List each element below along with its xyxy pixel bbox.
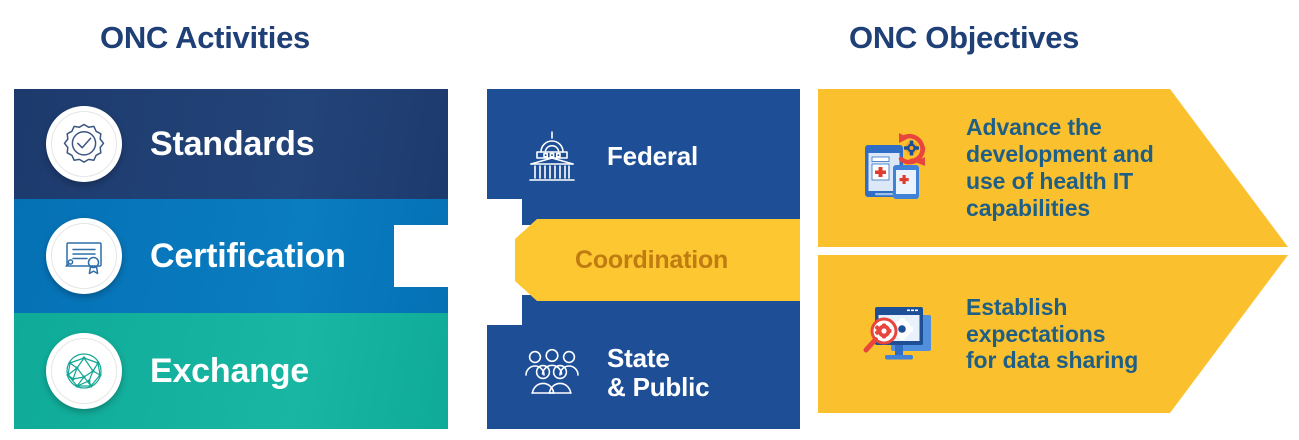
activity-label-certification: Certification: [150, 237, 346, 276]
objective-1-line4: capabilities: [966, 195, 1154, 222]
activity-label-exchange: Exchange: [150, 352, 309, 391]
activity-band-exchange[interactable]: Exchange: [14, 313, 448, 429]
partner-label-state-line1: State: [607, 344, 709, 373]
network-globe-icon: [46, 333, 122, 409]
certificate-award-icon: [46, 218, 122, 294]
objective-2-line2: expectations: [966, 321, 1138, 348]
objective-2-line1: Establish: [966, 294, 1138, 321]
activity-label-standards: Standards: [150, 125, 314, 164]
objective-1-line3: use of health IT: [966, 168, 1154, 195]
objective-arrow-advance-health-it[interactable]: Advance the development and use of healt…: [818, 89, 1288, 247]
partner-block-state-and-public[interactable]: State & Public: [487, 295, 800, 429]
group-of-people-icon: [521, 344, 583, 402]
partner-label-state-and-public: State & Public: [607, 344, 709, 402]
onc-partners-group: Federal Coordination: [487, 89, 800, 429]
onc-objectives-group: Advance the development and use of healt…: [818, 89, 1288, 429]
activity-band-certification[interactable]: Certification: [14, 199, 448, 313]
partner-block-federal[interactable]: Federal: [487, 89, 800, 225]
page-title-objectives: ONC Objectives: [849, 20, 1079, 56]
tablet-phone-sync-health-icon: [860, 129, 942, 207]
objective-1-line2: development and: [966, 141, 1154, 168]
capitol-building-icon: [521, 128, 583, 186]
objective-arrow-establish-expectations[interactable]: Establish expectations for data sharing: [818, 255, 1288, 413]
page-title-activities: ONC Activities: [100, 20, 310, 56]
objective-text-2: Establish expectations for data sharing: [966, 294, 1138, 375]
connector-notch: [394, 225, 454, 287]
monitor-gear-magnifier-icon: [860, 295, 942, 373]
objective-1-line1: Advance the: [966, 114, 1154, 141]
partner-label-state-line2: & Public: [607, 373, 709, 402]
activity-band-standards[interactable]: Standards: [14, 89, 448, 199]
onc-activities-group: Standards Certification: [14, 89, 448, 429]
objective-2-line3: for data sharing: [966, 347, 1138, 374]
infographic-canvas: ONC Activities ONC Objectives Standards: [0, 0, 1299, 440]
coordination-label: Coordination: [575, 246, 728, 275]
coordination-band[interactable]: Coordination: [515, 219, 800, 301]
gear-check-badge-icon: [46, 106, 122, 182]
partner-label-federal: Federal: [607, 142, 698, 171]
objective-text-1: Advance the development and use of healt…: [966, 114, 1154, 222]
